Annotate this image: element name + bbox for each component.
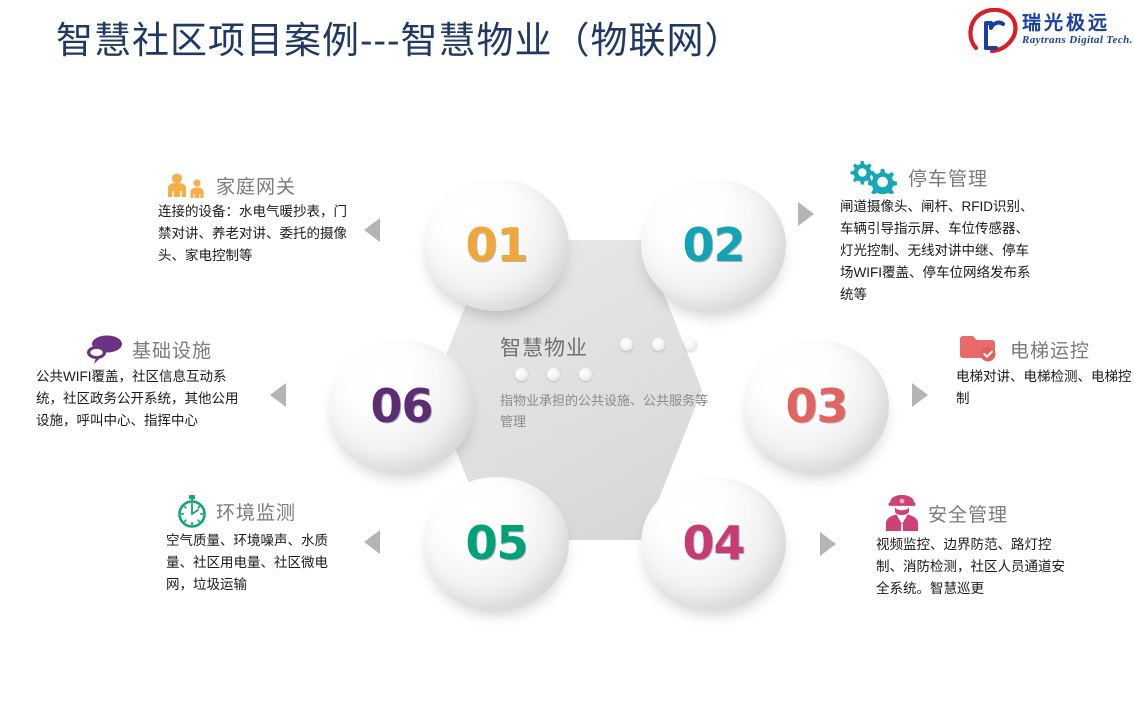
sphere-number-label: 02 <box>682 218 744 272</box>
family-people-icon <box>164 173 210 199</box>
logo-cn-name: 瑞光极远 <box>1022 8 1110 35</box>
decorative-dot <box>684 338 697 351</box>
center-description: 指物业承担的公共设施、公共服务等管理 <box>500 390 715 432</box>
callout-parking-management[interactable]: 停车管理 闸道摄像头、闸杆、RFID识别、车辆引导指示屏、车位传感器、灯光控制、… <box>840 160 1040 306</box>
gears-icon <box>848 160 902 194</box>
decorative-dot <box>652 338 665 351</box>
callout-body: 公共WIFI覆盖，社区信息互动系统，社区政务公开系统，其他公用设施，呼叫中心、指… <box>36 366 251 432</box>
callout-header: 环境监测 <box>166 494 351 528</box>
callout-header: 电梯运控 <box>956 334 1134 364</box>
decorative-dot-row-1 <box>620 338 697 351</box>
number-sphere-03[interactable]: 03 <box>744 340 889 472</box>
callout-heading: 环境监测 <box>216 498 296 525</box>
page-title: 智慧社区项目案例---智慧物业（物联网） <box>56 10 743 64</box>
center-title: 智慧物业 <box>500 332 588 362</box>
decorative-dot-row-2 <box>515 368 592 381</box>
sphere-number-label: 01 <box>465 218 527 272</box>
arrow-right-icon-02 <box>798 202 814 226</box>
callout-header: 家庭网关 <box>158 172 348 199</box>
arrow-left-icon-01 <box>364 218 380 242</box>
number-sphere-02[interactable]: 02 <box>641 179 786 311</box>
callout-heading: 停车管理 <box>908 164 988 191</box>
number-sphere-06[interactable]: 06 <box>329 340 474 472</box>
arrow-left-icon-05 <box>364 530 380 554</box>
company-logo: 瑞光极远 Raytrans Digital Tech. <box>968 6 1128 62</box>
callout-infrastructure[interactable]: 基础设施 公共WIFI覆盖，社区信息互动系统，社区政务公开系统，其他公用设施，呼… <box>36 334 251 432</box>
sphere-number-label: 04 <box>682 516 744 570</box>
sphere-number-label: 06 <box>370 379 432 433</box>
decorative-dot <box>515 368 528 381</box>
folder-check-icon <box>958 334 1004 364</box>
callout-body: 视频监控、边界防范、路灯控制、消防检测，社区人员通道安全系统。智慧巡更 <box>876 534 1076 600</box>
logo-en-name: Raytrans Digital Tech. <box>1022 34 1133 46</box>
callout-header: 安全管理 <box>876 494 1076 532</box>
stopwatch-icon <box>174 494 210 528</box>
decorative-dot <box>620 338 633 351</box>
number-sphere-01[interactable]: 01 <box>424 179 569 311</box>
arrow-left-icon-06 <box>270 383 286 407</box>
callout-environment-monitoring[interactable]: 环境监测 空气质量、环境噪声、水质量、社区用电量、社区微电网，垃圾运输 <box>166 494 351 596</box>
arrow-right-icon-03 <box>912 383 928 407</box>
security-guard-icon <box>882 494 922 532</box>
callout-body: 闸道摄像头、闸杆、RFID识别、车辆引导指示屏、车位传感器、灯光控制、无线对讲中… <box>840 196 1040 306</box>
slide-canvas: 智慧社区项目案例---智慧物业（物联网） 瑞光极远 Raytrans Digit… <box>0 0 1134 720</box>
callout-body: 电梯对讲、电梯检测、电梯控制 <box>956 366 1134 410</box>
speech-bubbles-icon <box>84 334 126 364</box>
number-sphere-04[interactable]: 04 <box>641 477 786 609</box>
decorative-dot <box>579 368 592 381</box>
sphere-number-label: 05 <box>465 516 527 570</box>
sphere-number-label: 03 <box>785 379 847 433</box>
callout-body: 空气质量、环境噪声、水质量、社区用电量、社区微电网，垃圾运输 <box>166 530 351 596</box>
arrow-right-icon-04 <box>820 532 836 556</box>
callout-heading: 电梯运控 <box>1010 336 1090 363</box>
stylized-r-mark-icon <box>968 8 1020 56</box>
number-sphere-05[interactable]: 05 <box>424 477 569 609</box>
callout-heading: 家庭网关 <box>216 172 296 199</box>
callout-elevator-control[interactable]: 电梯运控 电梯对讲、电梯检测、电梯控制 <box>956 334 1134 410</box>
callout-body: 连接的设备：水电气暖抄表，门禁对讲、养老对讲、委托的摄像头、家电控制等 <box>158 201 348 267</box>
callout-heading: 安全管理 <box>928 500 1008 527</box>
callout-heading: 基础设施 <box>132 336 212 363</box>
decorative-dot <box>547 368 560 381</box>
callout-family-gateway[interactable]: 家庭网关 连接的设备：水电气暖抄表，门禁对讲、养老对讲、委托的摄像头、家电控制等 <box>158 172 348 267</box>
callout-security-management[interactable]: 安全管理 视频监控、边界防范、路灯控制、消防检测，社区人员通道安全系统。智慧巡更 <box>876 494 1076 600</box>
callout-header: 基础设施 <box>36 334 251 364</box>
callout-header: 停车管理 <box>840 160 1040 194</box>
